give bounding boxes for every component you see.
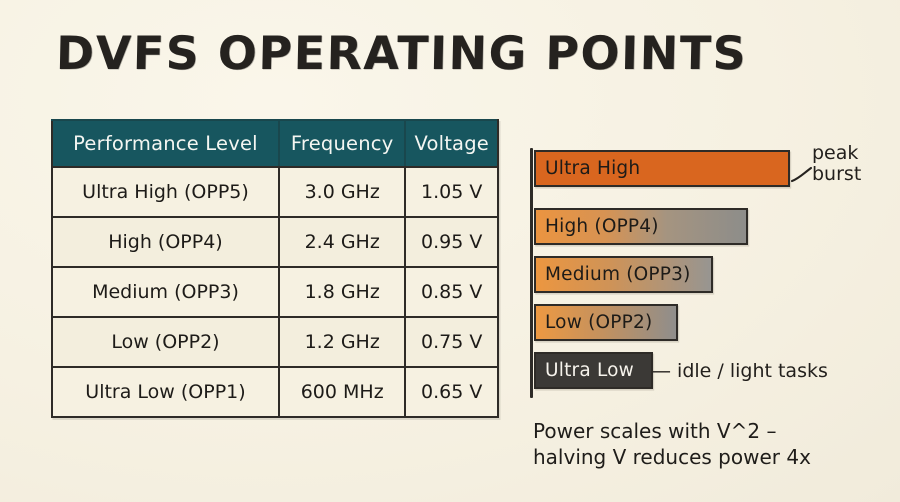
cell-frequency: 2.4 GHz (279, 217, 406, 267)
cell-frequency: 1.8 GHz (279, 267, 406, 317)
bar-row: Ultra Low (534, 352, 653, 389)
cell-performance-level: Ultra High (OPP5) (52, 167, 279, 217)
cell-frequency: 3.0 GHz (279, 167, 406, 217)
chart-y-axis-line (530, 148, 533, 398)
peak-burst-annotation: peak burst (812, 143, 861, 184)
peak-burst-line-2: burst (812, 164, 861, 185)
table-header: Performance Level Frequency Voltage (52, 120, 498, 167)
bar-label: Ultra Low (536, 360, 634, 381)
idle-light-tasks-annotation: — idle / light tasks (652, 360, 828, 382)
peak-burst-leader-line (791, 166, 813, 184)
table-body: Ultra High (OPP5) 3.0 GHz 1.05 V High (O… (52, 167, 498, 417)
cell-voltage: 0.65 V (405, 367, 498, 417)
table-row: Ultra Low (OPP1) 600 MHz 0.65 V (52, 367, 498, 417)
bar-row: Medium (OPP3) (534, 256, 713, 293)
dvfs-operating-points-table: Performance Level Frequency Voltage Ultr… (51, 119, 499, 418)
bar-label: Low (OPP2) (536, 312, 652, 333)
cell-performance-level: Ultra Low (OPP1) (52, 367, 279, 417)
bar-medium-opp3: Medium (OPP3) (534, 256, 713, 293)
bar-row: High (OPP4) (534, 208, 748, 245)
column-header-frequency: Frequency (279, 120, 406, 167)
bar-row: Ultra High (534, 150, 790, 187)
cell-voltage: 0.75 V (405, 317, 498, 367)
bar-row: Low (OPP2) (534, 304, 678, 341)
cell-voltage: 1.05 V (405, 167, 498, 217)
slide-canvas: DVFS OPERATING POINTS Performance Level … (0, 0, 900, 502)
bar-label: Ultra High (536, 158, 640, 179)
power-scaling-caption: Power scales with V^2 – halving V reduce… (533, 418, 811, 471)
peak-burst-line-1: peak (812, 143, 861, 164)
bar-label: High (OPP4) (536, 216, 659, 237)
column-header-performance-level: Performance Level (52, 120, 279, 167)
table-row: Ultra High (OPP5) 3.0 GHz 1.05 V (52, 167, 498, 217)
table-row: Medium (OPP3) 1.8 GHz 0.85 V (52, 267, 498, 317)
cell-voltage: 0.95 V (405, 217, 498, 267)
table-row: Low (OPP2) 1.2 GHz 0.75 V (52, 317, 498, 367)
bar-ultra-high: Ultra High (534, 150, 790, 187)
bar-label: Medium (OPP3) (536, 264, 691, 285)
cell-performance-level: Medium (OPP3) (52, 267, 279, 317)
cell-performance-level: Low (OPP2) (52, 317, 279, 367)
cell-frequency: 600 MHz (279, 367, 406, 417)
page-title: DVFS OPERATING POINTS (55, 26, 747, 80)
cell-voltage: 0.85 V (405, 267, 498, 317)
column-header-voltage: Voltage (405, 120, 498, 167)
table-header-row: Performance Level Frequency Voltage (52, 120, 498, 167)
bar-ultra-low: Ultra Low (534, 352, 653, 389)
bar-high-opp4: High (OPP4) (534, 208, 748, 245)
cell-performance-level: High (OPP4) (52, 217, 279, 267)
bar-low-opp2: Low (OPP2) (534, 304, 678, 341)
cell-frequency: 1.2 GHz (279, 317, 406, 367)
table-row: High (OPP4) 2.4 GHz 0.95 V (52, 217, 498, 267)
